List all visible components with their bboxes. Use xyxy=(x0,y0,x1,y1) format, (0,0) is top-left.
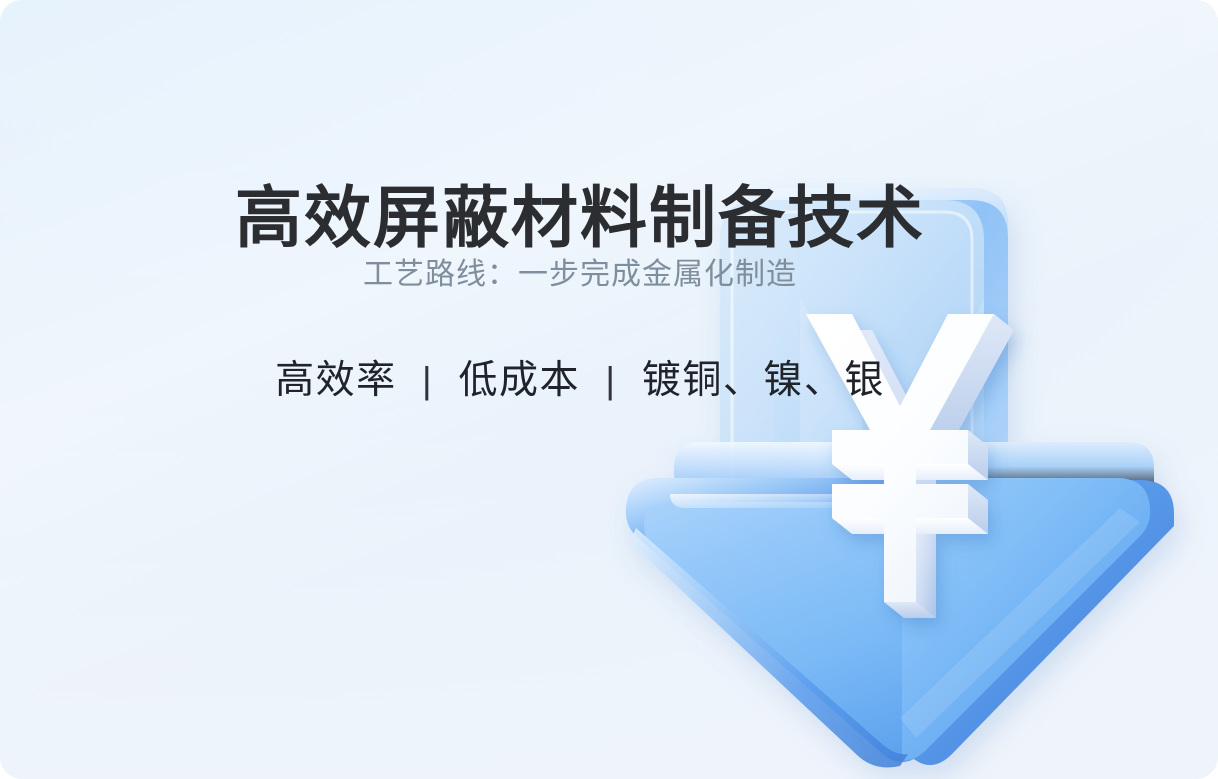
arrow-shoulder-right xyxy=(984,442,1154,496)
page-title: 高效屏蔽材料制备技术 xyxy=(0,179,1160,258)
feature-item-efficiency: 高效率 xyxy=(275,359,397,402)
arrow-head-right-edge xyxy=(892,480,1174,765)
arrow-shoulder-left xyxy=(674,442,984,498)
feature-separator-1: | xyxy=(409,360,446,401)
arrow-head-left-rim xyxy=(626,478,900,552)
promo-banner: 高效屏蔽材料制备技术 工艺路线：一步完成金属化制造 高效率 | 低成本 | 镀铜… xyxy=(0,0,1218,779)
feature-separator-2: | xyxy=(592,360,629,401)
feature-list: 高效率 | 低成本 | 镀铜、镍、银 xyxy=(0,356,1160,407)
feature-item-low-cost: 低成本 xyxy=(458,359,580,402)
subtitle: 工艺路线：一步完成金属化制造 xyxy=(0,255,1160,294)
feature-item-plating-metals: 镀铜、镍、银 xyxy=(642,359,885,402)
arrow-head-face xyxy=(626,478,1150,762)
